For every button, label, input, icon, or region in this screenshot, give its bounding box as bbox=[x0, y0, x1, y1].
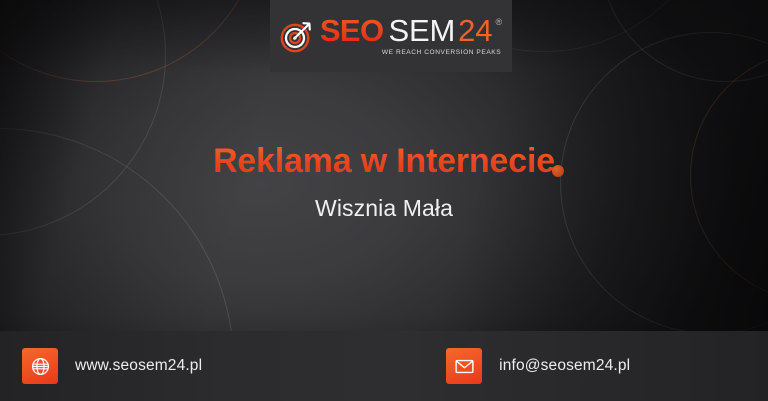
email-text: info@seosem24.pl bbox=[499, 357, 630, 375]
website-text: www.seosem24.pl bbox=[75, 357, 202, 375]
contact-footer-bar: www.seosem24.pl info@seosem24.pl 533 543… bbox=[0, 331, 768, 401]
logo-24-text: 24 bbox=[458, 15, 492, 46]
target-arrow-icon bbox=[280, 19, 314, 53]
envelope-icon bbox=[446, 348, 482, 384]
brand-logo[interactable]: SEO SEM 24 ® WE REACH CONVERSION PEAKS bbox=[280, 15, 502, 57]
logo-tagline: WE REACH CONVERSION PEAKS bbox=[320, 50, 502, 57]
page-title: Reklama w Internecie bbox=[0, 142, 768, 181]
hero-text-block: Reklama w Internecie Wisznia Mała bbox=[0, 142, 768, 222]
globe-icon bbox=[22, 348, 58, 384]
logo-panel: SEO SEM 24 ® WE REACH CONVERSION PEAKS bbox=[270, 0, 512, 72]
seo-promo-banner: SEO SEM 24 ® WE REACH CONVERSION PEAKS R… bbox=[0, 0, 768, 401]
brand-wordmark: SEO SEM 24 ® WE REACH CONVERSION PEAKS bbox=[320, 15, 502, 57]
contact-website[interactable]: www.seosem24.pl bbox=[22, 348, 202, 384]
page-subtitle: Wisznia Mała bbox=[0, 195, 768, 222]
logo-sem-text: SEM bbox=[388, 15, 455, 46]
registered-trademark-icon: ® bbox=[496, 18, 503, 27]
contact-email[interactable]: info@seosem24.pl bbox=[446, 348, 630, 384]
logo-seo-text: SEO bbox=[320, 15, 384, 46]
